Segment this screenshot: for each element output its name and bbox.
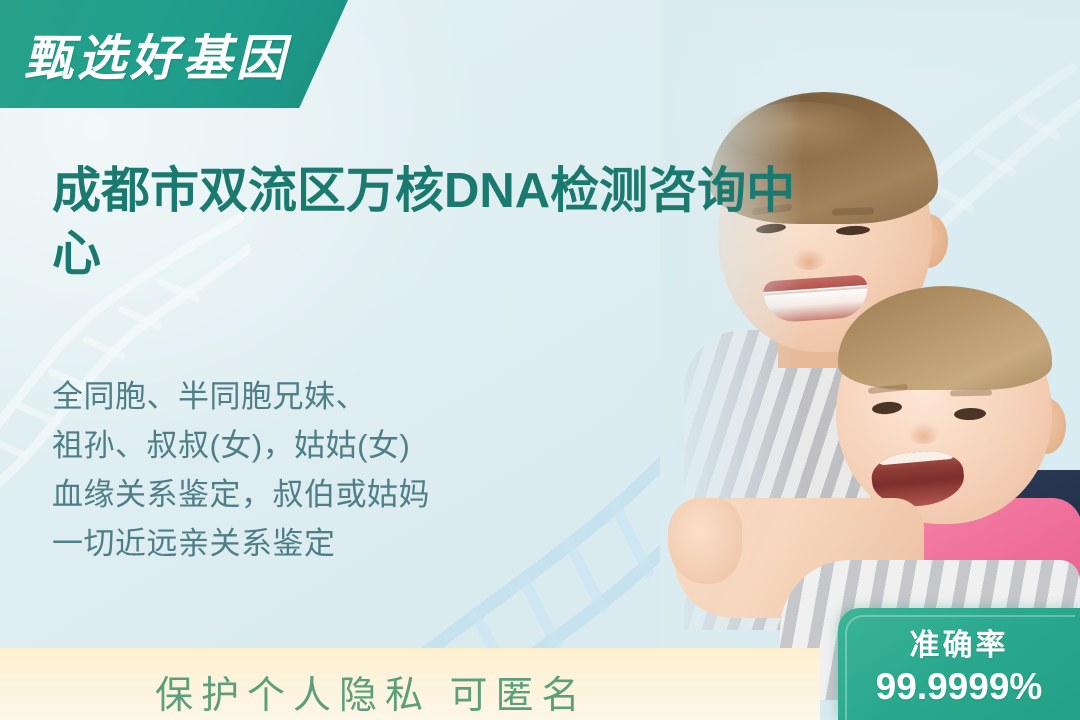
service-line: 血缘关系鉴定，叔伯或姑妈: [52, 470, 430, 519]
promo-poster: 甄选好基因 成都市双流区万核DNA检测咨询中心 全同胞、半同胞兄妹、 祖孙、叔叔…: [0, 0, 1080, 720]
service-line: 祖孙、叔叔(女)，姑姑(女): [52, 421, 430, 470]
service-line: 全同胞、半同胞兄妹、: [52, 372, 430, 421]
boy-teeth: [763, 286, 867, 295]
privacy-banner-text: 保护个人隐私 可匿名: [155, 664, 588, 719]
privacy-banner: 保护个人隐私 可匿名: [0, 648, 820, 720]
brand-ribbon-text: 甄选好基因: [24, 19, 289, 90]
accuracy-badge: 准确率 99.9999%: [838, 608, 1080, 720]
page-title: 成都市双流区万核DNA检测咨询中心: [52, 160, 822, 285]
accuracy-badge-value: 99.9999%: [838, 666, 1080, 708]
children-photo: [660, 0, 1080, 700]
brand-ribbon-content: 甄选好基因: [0, 0, 348, 108]
boy-eyebrow-right: [832, 207, 874, 215]
baby-hand: [668, 498, 742, 584]
service-description: 全同胞、半同胞兄妹、 祖孙、叔叔(女)，姑姑(女) 血缘关系鉴定，叔伯或姑妈 一…: [52, 372, 430, 568]
service-line: 一切近远亲关系鉴定: [52, 519, 430, 568]
accuracy-badge-label: 准确率: [838, 620, 1080, 664]
baby-nose: [908, 422, 940, 444]
baby-eyebrow-right: [950, 390, 992, 397]
